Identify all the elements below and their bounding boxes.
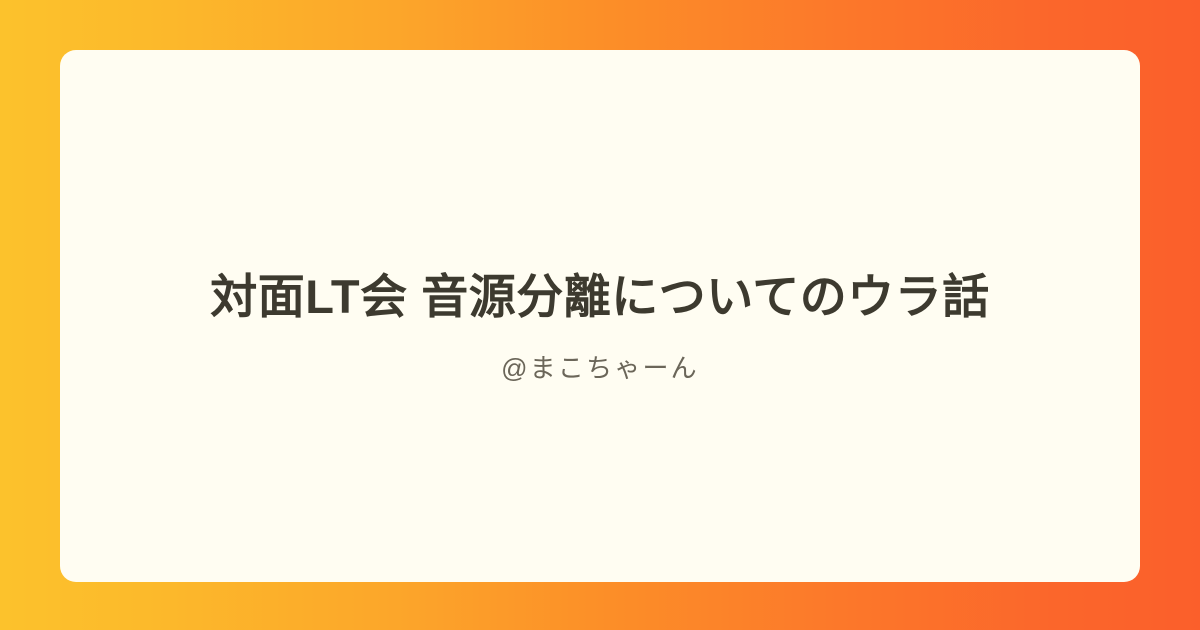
og-card-background: 対面LT会 音源分離についてのウラ話 @まこちゃーん <box>0 0 1200 630</box>
title-block: 対面LT会 音源分離についてのウラ話 @まこちゃーん <box>116 266 1084 384</box>
content-card: 対面LT会 音源分離についてのウラ話 @まこちゃーん <box>60 50 1140 582</box>
author-handle: @まこちゃーん <box>501 327 699 384</box>
page-title: 対面LT会 音源分離についてのウラ話 <box>210 266 990 327</box>
